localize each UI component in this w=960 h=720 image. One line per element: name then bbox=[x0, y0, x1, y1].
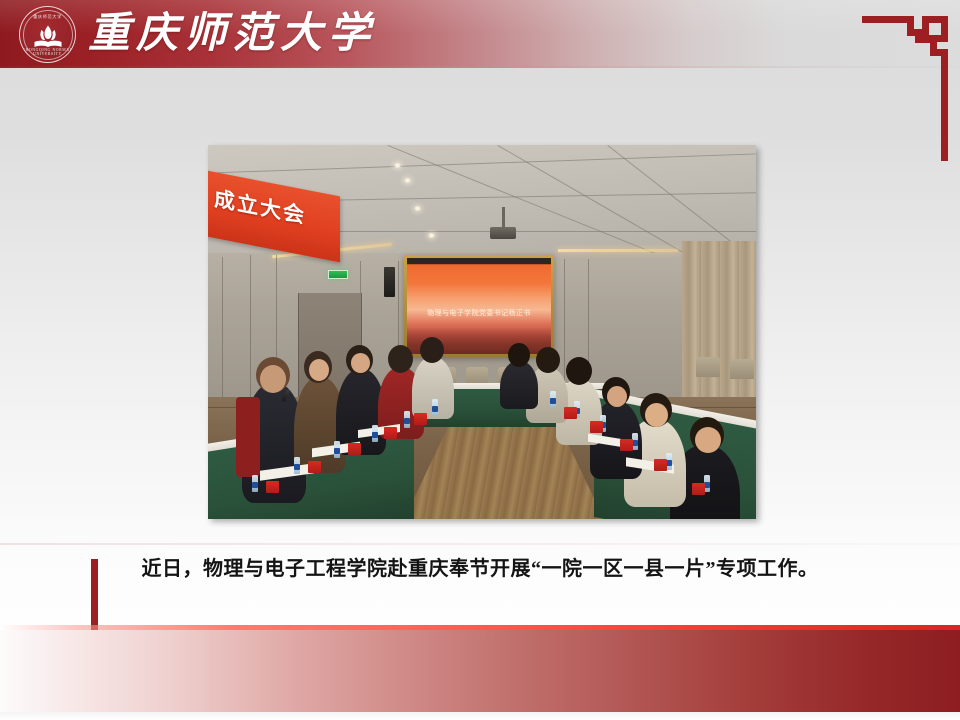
attendee-tie bbox=[236, 397, 260, 477]
corner-ornament-top-right-icon bbox=[862, 8, 948, 168]
wall-panel-seam bbox=[222, 257, 223, 403]
attendee-head bbox=[420, 337, 444, 363]
attendee-face bbox=[309, 359, 329, 381]
ceiling-downlight bbox=[394, 163, 401, 168]
name-card bbox=[654, 459, 667, 471]
name-card bbox=[384, 427, 397, 439]
attendee-head bbox=[566, 357, 592, 385]
attendee-face bbox=[607, 386, 627, 407]
chair bbox=[730, 359, 754, 379]
window-curtain bbox=[682, 241, 756, 423]
wall-panel-seam bbox=[250, 255, 251, 403]
footer-edge bbox=[0, 712, 960, 720]
attendee-face bbox=[351, 353, 370, 373]
attendee-head bbox=[508, 343, 530, 367]
name-card bbox=[620, 439, 633, 451]
name-card bbox=[266, 481, 279, 493]
caption-divider bbox=[0, 543, 960, 545]
name-card bbox=[414, 413, 427, 425]
attendee-face bbox=[260, 365, 286, 393]
water-bottle bbox=[550, 391, 556, 408]
screen-text: 物理与电子学院党委书记杨正书 bbox=[407, 308, 551, 318]
crest-arc-text-bottom: CHONGQING NORMAL UNIVERSITY bbox=[20, 48, 75, 56]
ceiling-downlight bbox=[404, 178, 411, 183]
water-bottle bbox=[404, 411, 410, 428]
attendee-face bbox=[695, 427, 721, 453]
attendee bbox=[500, 361, 538, 409]
name-card bbox=[348, 443, 361, 455]
water-bottle bbox=[252, 475, 258, 492]
wall-cove-light bbox=[558, 249, 678, 252]
water-bottle bbox=[334, 441, 340, 458]
wall-speaker-icon bbox=[384, 267, 395, 297]
attendee-head bbox=[388, 345, 413, 373]
water-bottle bbox=[372, 425, 378, 442]
attendee-face bbox=[645, 403, 668, 427]
exit-sign-icon bbox=[328, 270, 348, 279]
name-card bbox=[692, 483, 705, 495]
crest-arc-text-top: 重庆师范大学 bbox=[20, 14, 75, 20]
photo-caption: 近日，物理与电子工程学院赴重庆奉节开展“一院一区一县一片”专项工作。 bbox=[0, 552, 960, 581]
university-crest-icon: 重庆师范大学 CHONGQING NORMAL UNIVERSITY bbox=[19, 6, 76, 63]
content-photo: 成立大会 物理与电子学院党委书记杨正书 bbox=[208, 145, 756, 519]
ceiling-downlight bbox=[414, 206, 421, 211]
attendee-head bbox=[536, 347, 560, 373]
water-bottle bbox=[432, 399, 438, 416]
name-card bbox=[308, 461, 321, 473]
name-card bbox=[564, 407, 577, 419]
projector-mount bbox=[502, 207, 505, 229]
presentation-slide: 重庆师范大学 CHONGQING NORMAL UNIVERSITY 重庆师范大… bbox=[0, 0, 960, 720]
footer-band bbox=[0, 630, 960, 712]
header-underline bbox=[0, 66, 960, 68]
ceiling-downlight bbox=[428, 233, 435, 238]
ceiling-projector-icon bbox=[490, 227, 516, 239]
name-card bbox=[590, 421, 603, 433]
university-name: 重庆师范大学 bbox=[88, 5, 376, 63]
chair bbox=[696, 357, 720, 377]
water-bottle bbox=[294, 457, 300, 474]
